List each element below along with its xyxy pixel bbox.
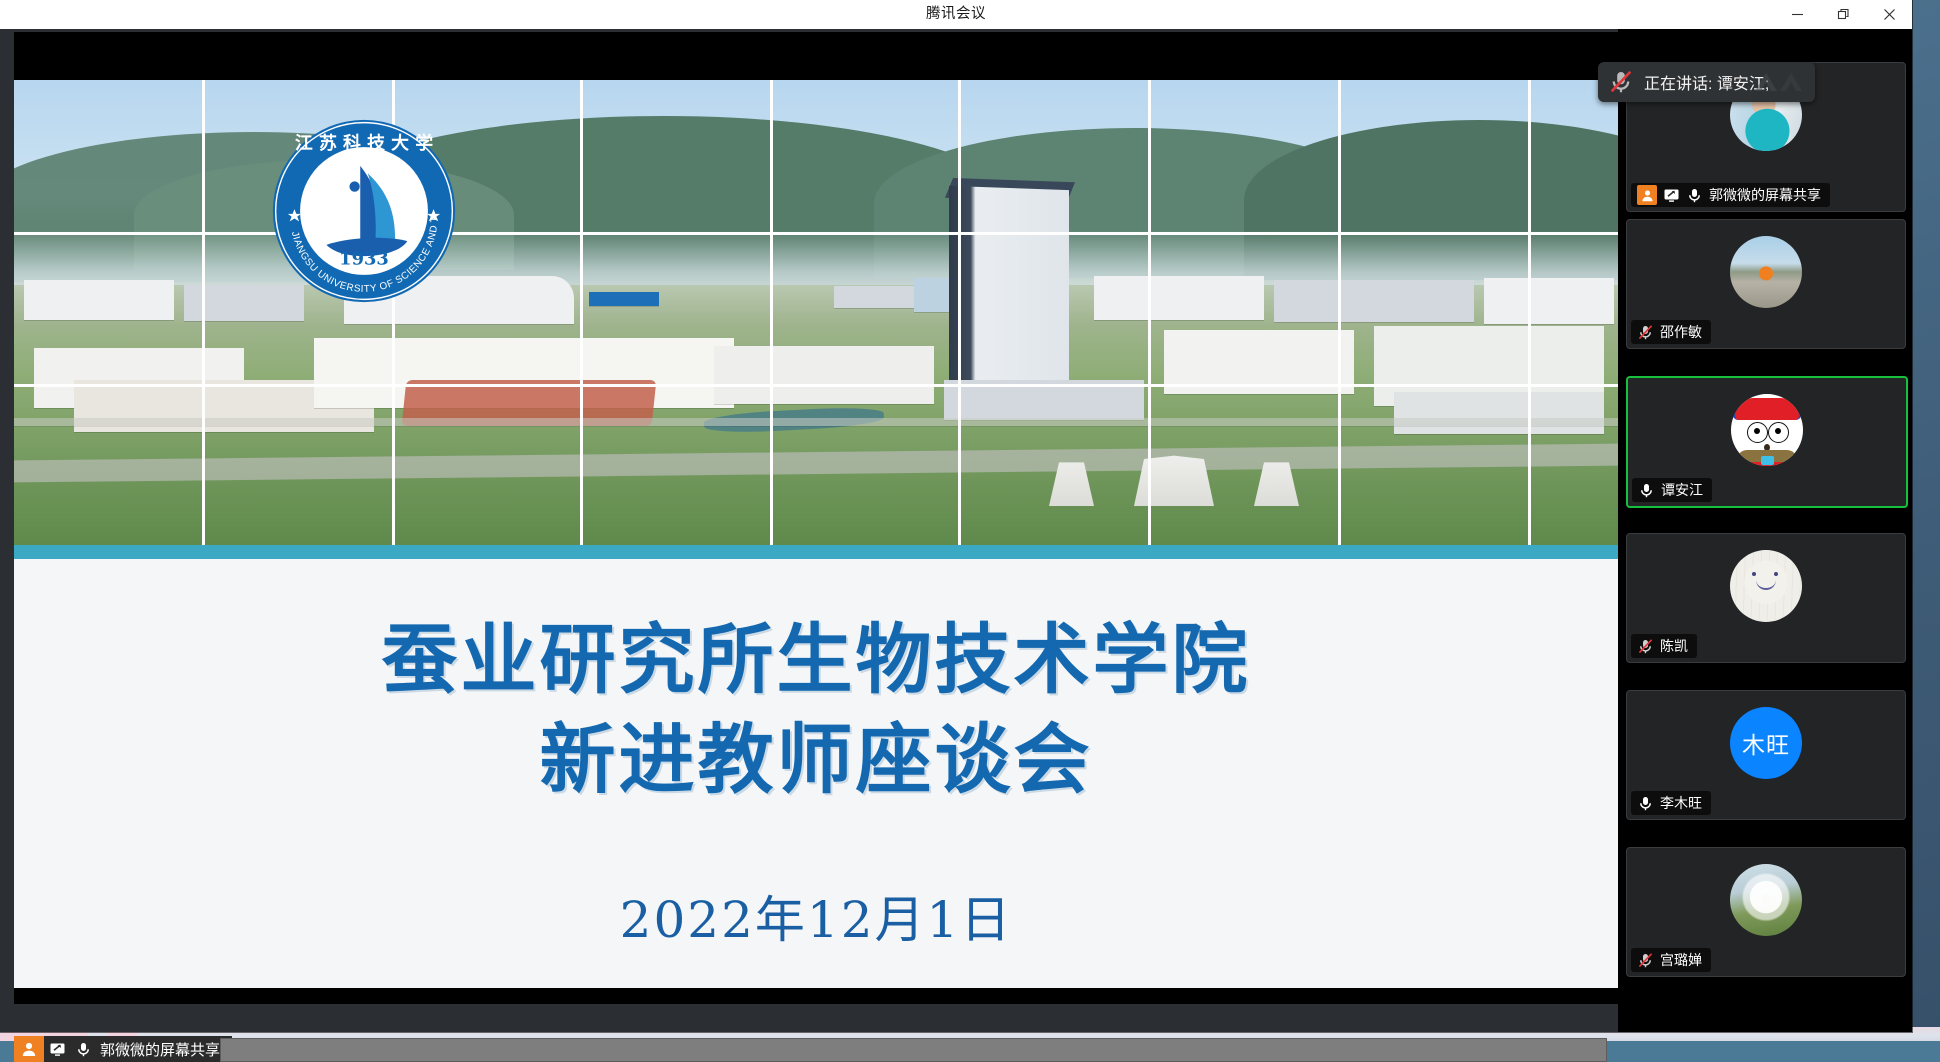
window-controls: [1774, 0, 1912, 29]
participant-label: 郭微微的屏幕共享: [1631, 183, 1830, 207]
microphone-icon: [70, 1036, 96, 1062]
participant-tile[interactable]: 宫璐婵: [1626, 847, 1906, 977]
participant-tile[interactable]: 谭安江: [1626, 376, 1908, 508]
tencent-meeting-window: 腾讯会议: [0, 0, 1912, 1032]
slide-title: 蚕业研究所生物技术学院 新进教师座谈会: [14, 610, 1618, 811]
participant-name: 陈凯: [1660, 636, 1688, 656]
university-logo: 1933 江 苏 科 技 大 学 JIANGSU UNIVERSITY OF S…: [270, 117, 458, 305]
restore-button[interactable]: [1820, 0, 1866, 29]
microphone-muted-icon: [1637, 324, 1654, 341]
slide-title-line-2: 新进教师座谈会: [14, 710, 1618, 810]
tencent-meeting-logo-icon: [1753, 69, 1805, 95]
microphone-icon: [1686, 187, 1703, 204]
microphone-muted-icon: [1637, 638, 1654, 655]
screen-share-icon: [44, 1036, 70, 1062]
shared-screen-frame: 1933 江 苏 科 技 大 学 JIANGSU UNIVERSITY OF S…: [14, 32, 1618, 1004]
participant-name: 李木旺: [1660, 793, 1702, 813]
slide-title-line-1: 蚕业研究所生物技术学院: [382, 615, 1251, 704]
avatar: [1730, 550, 1802, 622]
avatar: 木旺: [1730, 707, 1802, 779]
participant-tile[interactable]: 木旺 李木旺: [1626, 690, 1906, 820]
avatar: [1730, 864, 1802, 936]
screen-share-icon: [1663, 187, 1680, 204]
microphone-muted-icon: [1608, 69, 1634, 95]
svg-text:1933: 1933: [339, 249, 389, 270]
microphone-icon: [1638, 482, 1655, 499]
campus-panorama-photo: 1933 江 苏 科 技 大 学 JIANGSU UNIVERSITY OF S…: [14, 80, 1618, 545]
participant-name: 邵作敏: [1660, 322, 1702, 342]
title-bar: 腾讯会议: [0, 0, 1912, 30]
participant-tile[interactable]: 陈凯: [1626, 533, 1906, 663]
user-icon: [14, 1036, 44, 1062]
participant-label: 宫璐婵: [1631, 948, 1711, 972]
participant-name: 郭微微的屏幕共享: [1709, 185, 1821, 205]
window-title: 腾讯会议: [0, 0, 1912, 29]
participant-tile[interactable]: 邵作敏: [1626, 219, 1906, 349]
svg-text:江 苏 科 技 大 学: 江 苏 科 技 大 学: [295, 132, 433, 154]
shared-screen-area[interactable]: 1933 江 苏 科 技 大 学 JIANGSU UNIVERSITY OF S…: [0, 29, 1618, 1032]
close-button[interactable]: [1866, 0, 1912, 29]
user-icon: [1637, 185, 1657, 205]
presenter-label: 郭微微的屏幕共享: [96, 1039, 232, 1060]
participant-label: 李木旺: [1631, 791, 1711, 815]
participant-label: 陈凯: [1631, 634, 1697, 658]
speaking-tooltip: 正在讲话: 谭安江;: [1598, 62, 1815, 102]
participant-name: 谭安江: [1661, 480, 1703, 500]
presentation-slide: 1933 江 苏 科 技 大 学 JIANGSU UNIVERSITY OF S…: [14, 80, 1618, 988]
slide-bottom-mask: [14, 988, 1618, 1004]
avatar-initials: 木旺: [1730, 707, 1802, 779]
participant-name: 宫璐婵: [1660, 950, 1702, 970]
presenter-status-bar[interactable]: 郭微微的屏幕共享: [14, 1036, 232, 1062]
minimize-button[interactable]: [1774, 0, 1820, 29]
participant-label: 邵作敏: [1631, 320, 1711, 344]
participant-rail[interactable]: 郭微微的屏幕共享 邵作敏: [1618, 29, 1912, 1032]
slide-divider: [14, 545, 1618, 559]
microphone-muted-icon: [1637, 952, 1654, 969]
avatar: [1730, 236, 1802, 308]
desktop-task-strip[interactable]: [220, 1038, 1607, 1062]
avatar: [1731, 394, 1803, 466]
microphone-icon: [1637, 795, 1654, 812]
slide-date: 2022年12月1日: [14, 880, 1618, 952]
participant-label: 谭安江: [1632, 478, 1712, 502]
